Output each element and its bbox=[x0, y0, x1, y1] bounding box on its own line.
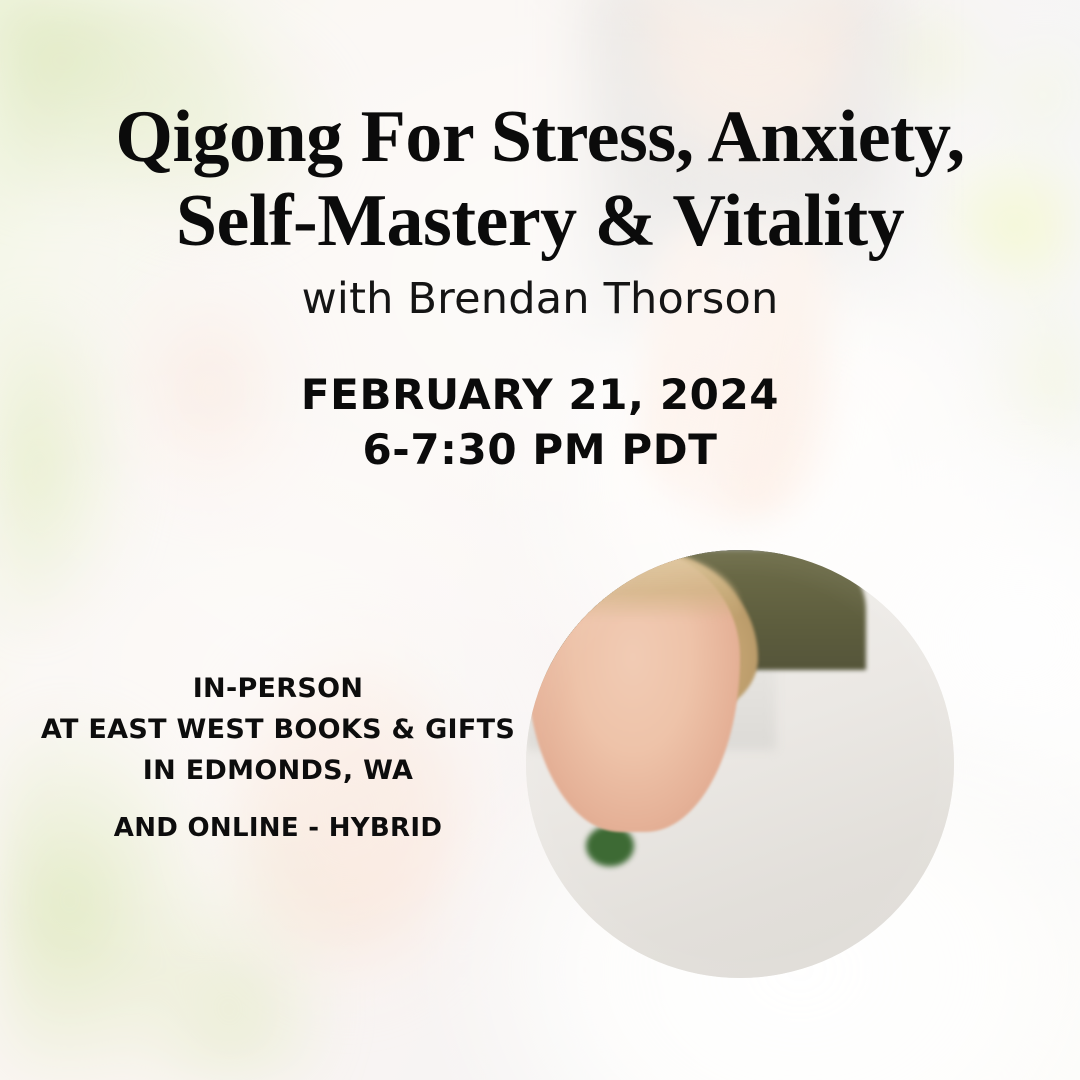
event-datetime: FEBRUARY 21, 2024 6-7:30 PM PDT bbox=[0, 368, 1080, 477]
presenter-name: with Brendan Thorson bbox=[0, 274, 1080, 324]
event-title-line-2: Self-Mastery & Vitality bbox=[0, 180, 1080, 264]
location-city: IN EDMONDS, WA bbox=[18, 750, 538, 791]
event-location: IN-PERSON AT EAST WEST BOOKS & GIFTS IN … bbox=[18, 668, 538, 849]
event-title: Qigong For Stress, Anxiety, Self-Mastery… bbox=[0, 96, 1080, 263]
location-venue: AT EAST WEST BOOKS & GIFTS bbox=[18, 709, 538, 750]
flyer-content: Qigong For Stress, Anxiety, Self-Mastery… bbox=[0, 0, 1080, 1080]
portrait-vignette bbox=[526, 550, 954, 978]
location-online: AND ONLINE - HYBRID bbox=[18, 809, 538, 849]
location-format: IN-PERSON bbox=[18, 668, 538, 709]
event-date: FEBRUARY 21, 2024 bbox=[0, 368, 1080, 423]
presenter-portrait bbox=[526, 550, 954, 978]
event-title-line-1: Qigong For Stress, Anxiety, bbox=[0, 96, 1080, 180]
event-flyer: Qigong For Stress, Anxiety, Self-Mastery… bbox=[0, 0, 1080, 1080]
event-time: 6-7:30 PM PDT bbox=[0, 423, 1080, 478]
